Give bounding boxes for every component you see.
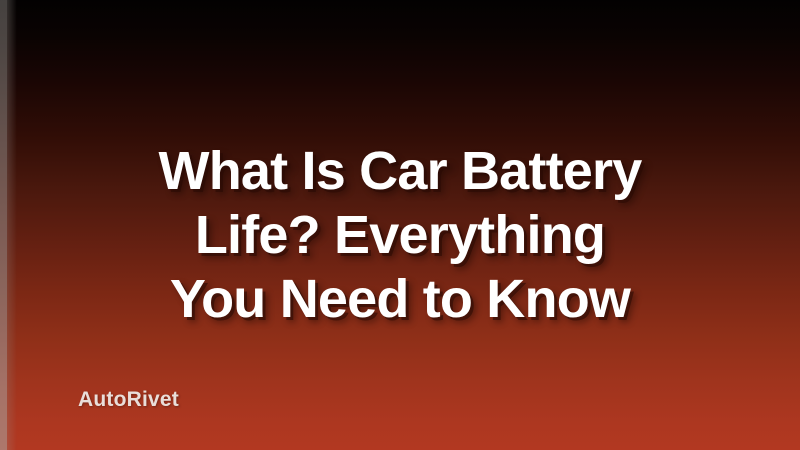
article-hero-banner: What Is Car Battery Life? Everything You… <box>0 0 800 450</box>
page-title-line-1: What Is Car Battery <box>46 139 754 203</box>
brand-wordmark[interactable]: AutoRivet <box>78 388 179 412</box>
page-title: What Is Car Battery Life? Everything You… <box>0 139 800 331</box>
page-title-line-3: You Need to Know <box>46 267 754 331</box>
page-title-line-2: Life? Everything <box>46 203 754 267</box>
